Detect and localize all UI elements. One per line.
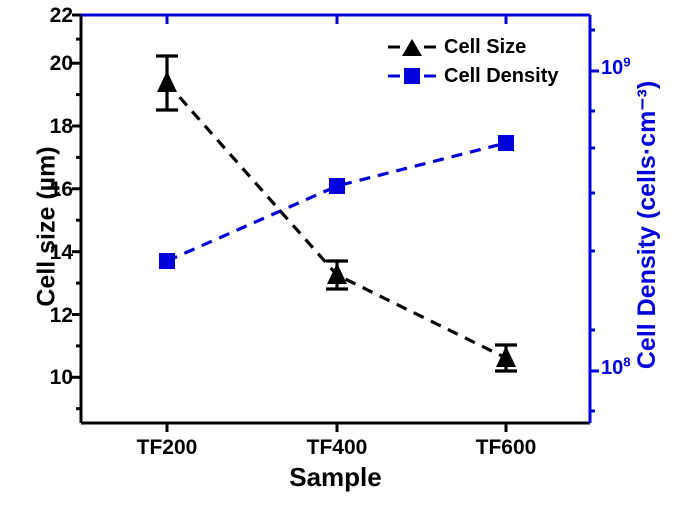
y-axis-label-left: Cell size (µm) [33, 97, 62, 357]
ytick-label-left: 10 [13, 366, 73, 390]
legend-label-cell-density: Cell Density [444, 65, 558, 88]
series-cell-density [159, 135, 514, 269]
cell-density-marker [159, 253, 175, 269]
ytick-label-left: 22 [13, 4, 73, 28]
cell-size-line [167, 83, 506, 358]
legend-markers [388, 39, 436, 84]
xtick-label-tf200: TF200 [107, 436, 227, 460]
plot-canvas [0, 0, 693, 508]
xtick-label-tf400: TF400 [277, 436, 397, 460]
cell-size-marker [157, 71, 177, 92]
xtick-label-tf600: TF600 [446, 436, 566, 460]
legend-marker-cell-size [388, 39, 436, 56]
legend-marker-cell-density [388, 68, 436, 84]
legend-label-cell-size: Cell Size [444, 36, 526, 59]
cell-density-marker [498, 135, 514, 151]
ytick-label-right: 108 [601, 357, 631, 380]
cell-size-errorbars [156, 56, 517, 371]
ytick-label-left: 20 [13, 52, 73, 76]
cell-density-line [167, 143, 506, 261]
y-axis-label-right: Cell Density (cells·cm⁻³) [632, 25, 662, 425]
cell-size-marker [327, 263, 347, 284]
ytick-label-right: 109 [601, 57, 631, 80]
chart-figure: 22 20 18 16 14 12 10 109 108 TF200 TF400… [0, 0, 693, 508]
x-axis-label: Sample [81, 462, 590, 493]
cell-size-marker [496, 346, 516, 367]
cell-density-marker [329, 178, 345, 194]
series-cell-size [156, 56, 517, 371]
